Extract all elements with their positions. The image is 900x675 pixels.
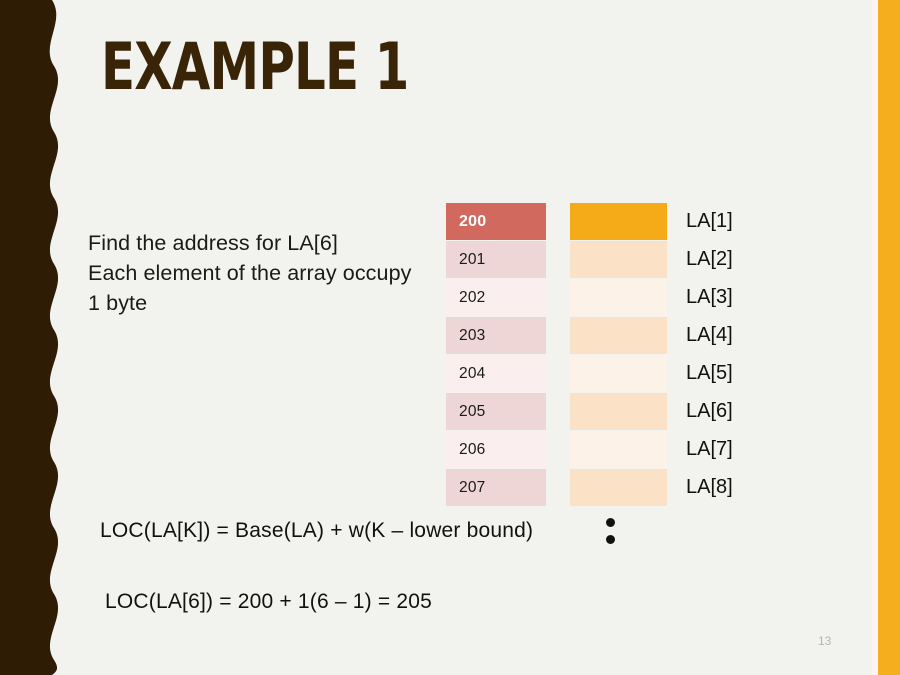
value-cell [570, 241, 667, 278]
page-number: 13 [818, 634, 831, 648]
prompt-line-3: 1 byte [88, 288, 412, 318]
prompt-line-1: Find the address for LA[6] [88, 228, 412, 258]
address-cell: 204 [446, 355, 546, 392]
continuation-ellipsis-icon [606, 518, 620, 552]
array-element-label: LA[5] [686, 355, 733, 392]
array-element-label: LA[2] [686, 241, 733, 278]
address-cell: 202 [446, 279, 546, 316]
ellipsis-dot [606, 518, 615, 527]
value-cell [570, 203, 667, 240]
formula-general: LOC(LA[K]) = Base(LA) + w(K – lower boun… [100, 519, 533, 543]
value-cell [570, 355, 667, 392]
prompt-line-2: Each element of the array occupy [88, 258, 412, 288]
formula-applied: LOC(LA[6]) = 200 + 1(6 – 1) = 205 [105, 590, 432, 614]
address-cell: 207 [446, 469, 546, 506]
address-cell: 206 [446, 431, 546, 468]
ellipsis-dot [606, 535, 615, 544]
value-cell [570, 393, 667, 430]
address-cell: 203 [446, 317, 546, 354]
left-wave-decoration [0, 0, 70, 675]
array-element-label: LA[1] [686, 203, 733, 240]
array-element-label: LA[8] [686, 469, 733, 506]
array-element-label: LA[4] [686, 317, 733, 354]
address-cell: 200 [446, 203, 546, 240]
array-element-label: LA[6] [686, 393, 733, 430]
address-cell: 205 [446, 393, 546, 430]
address-cell: 201 [446, 241, 546, 278]
array-element-label: LA[7] [686, 431, 733, 468]
slide-canvas: EXAMPLE 1 Find the address for LA[6] Eac… [0, 0, 900, 675]
page-title: EXAMPLE 1 [101, 33, 409, 101]
right-accent-bar [878, 0, 900, 675]
value-cell [570, 469, 667, 506]
prompt-text: Find the address for LA[6] Each element … [88, 228, 412, 318]
value-cell [570, 317, 667, 354]
value-cell [570, 431, 667, 468]
array-element-label: LA[3] [686, 279, 733, 316]
value-cell [570, 279, 667, 316]
